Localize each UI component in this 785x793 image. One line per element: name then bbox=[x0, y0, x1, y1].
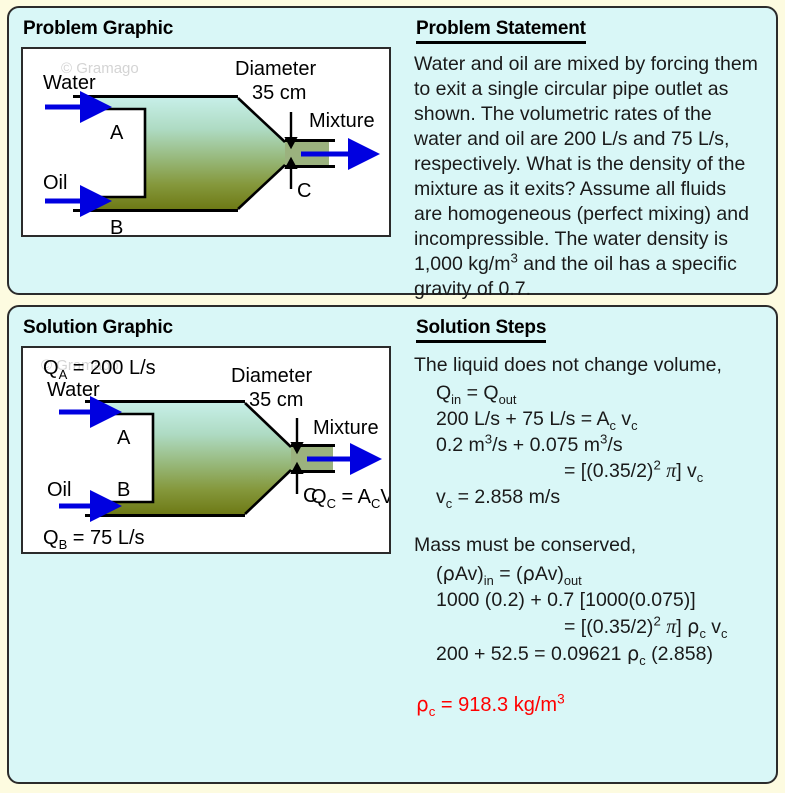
volume-conservation-lead: The liquid does not change volume, bbox=[414, 353, 764, 378]
final-answer: ρc = 918.3 kg/m3 bbox=[414, 692, 764, 718]
equation-flow-sum: 200 L/s + 75 L/s = Ac vc bbox=[414, 407, 764, 432]
worksheet-page: Problem Graphic bbox=[0, 0, 785, 793]
statement-line: respectively. What is the density of the bbox=[414, 152, 764, 177]
problem-panel: Problem Graphic bbox=[7, 6, 778, 295]
water-label: Water bbox=[43, 72, 96, 94]
inlet-b-label: B bbox=[117, 479, 130, 501]
equation-mass-in-out: (ρAv)in = (ρAv)out bbox=[414, 561, 764, 587]
solution-panel: Solution Graphic bbox=[7, 305, 778, 784]
diameter-label-line1: Diameter bbox=[231, 365, 312, 387]
statement-line: shown. The volumetric rates of the bbox=[414, 102, 764, 127]
solution-graphic-title: Solution Graphic bbox=[23, 317, 394, 339]
statement-line: incompressible. The water density is bbox=[414, 227, 764, 252]
problem-graphic-title: Problem Graphic bbox=[23, 18, 394, 40]
problem-pipe-diagram: © Gramago Water Oil A B C Diameter 35 cm… bbox=[23, 49, 389, 235]
equation-mass-terms: 1000 (0.2) + 0.7 [1000(0.075)] bbox=[414, 588, 764, 613]
inlet-a-label: A bbox=[117, 427, 131, 449]
steps-spacer-2 bbox=[414, 668, 764, 688]
inlet-a-label: A bbox=[110, 122, 124, 144]
outlet-c-label: C bbox=[303, 485, 317, 507]
equation-mass-numeric: 200 + 52.5 = 0.09621 ρc (2.858) bbox=[414, 641, 764, 667]
diameter-label-line2: 35 cm bbox=[249, 389, 303, 411]
oil-label: Oil bbox=[43, 172, 67, 194]
problem-statement-text: Water and oil are mixed by forcing them … bbox=[414, 52, 764, 302]
statement-line: Water and oil are mixed by forcing them bbox=[414, 52, 764, 77]
problem-graphic-column: Problem Graphic bbox=[9, 8, 404, 293]
inlet-b-label: B bbox=[110, 217, 123, 235]
statement-line: gravity of 0.7. bbox=[414, 277, 764, 302]
mixture-label: Mixture bbox=[313, 417, 379, 439]
diameter-label-line2: 35 cm bbox=[252, 82, 306, 104]
statement-line: to exit a single circular pipe outlet as bbox=[414, 77, 764, 102]
mass-conservation-lead: Mass must be conserved, bbox=[414, 533, 764, 558]
equation-mass-area-velocity: = [(0.35/2)2 π] ρc vc bbox=[414, 614, 764, 640]
solution-steps-title: Solution Steps bbox=[416, 317, 546, 343]
statement-line: mixture as it exits? Assume all fluids bbox=[414, 177, 764, 202]
statement-line-density: 1,000 kg/m3 and the oil has a specific bbox=[414, 252, 764, 277]
diameter-label-line1: Diameter bbox=[235, 58, 316, 80]
equation-q-in-out: Qin = Qout bbox=[414, 381, 764, 406]
oil-label: Oil bbox=[47, 479, 71, 501]
problem-statement-title: Problem Statement bbox=[416, 18, 586, 44]
final-answer-value: 918.3 bbox=[458, 694, 508, 716]
equation-flow-sum-si: 0.2 m3/s + 0.075 m3/s bbox=[414, 433, 764, 458]
equation-area-velocity: = [(0.35/2)2 π] vc bbox=[414, 459, 764, 484]
solution-graphic-column: Solution Graphic bbox=[9, 307, 404, 782]
solution-steps-column: Solution Steps The liquid does not chang… bbox=[404, 307, 776, 782]
equation-velocity-result: vc = 2.858 m/s bbox=[414, 485, 764, 510]
solution-graphic: © Gramago QA = 200 L/s QB = 75 L/s QC = … bbox=[21, 346, 391, 554]
flow-rate-b-label: QB = 75 L/s bbox=[43, 527, 145, 552]
problem-statement-column: Problem Statement Water and oil are mixe… bbox=[404, 8, 776, 293]
solution-steps-body: The liquid does not change volume, Qin =… bbox=[414, 353, 764, 718]
outlet-c-label: C bbox=[297, 180, 311, 202]
problem-graphic: © Gramago Water Oil A B C Diameter 35 cm… bbox=[21, 47, 391, 237]
statement-line: are homogeneous (perfect mixing) and bbox=[414, 202, 764, 227]
water-label: Water bbox=[47, 379, 100, 401]
steps-spacer bbox=[414, 511, 764, 531]
mixture-label: Mixture bbox=[309, 110, 375, 132]
statement-line: water and oil are 200 L/s and 75 L/s, bbox=[414, 127, 764, 152]
flow-rate-c-equation: QC = ACVC bbox=[311, 486, 389, 511]
solution-pipe-diagram: © Gramago QA = 200 L/s QB = 75 L/s QC = … bbox=[23, 348, 389, 552]
